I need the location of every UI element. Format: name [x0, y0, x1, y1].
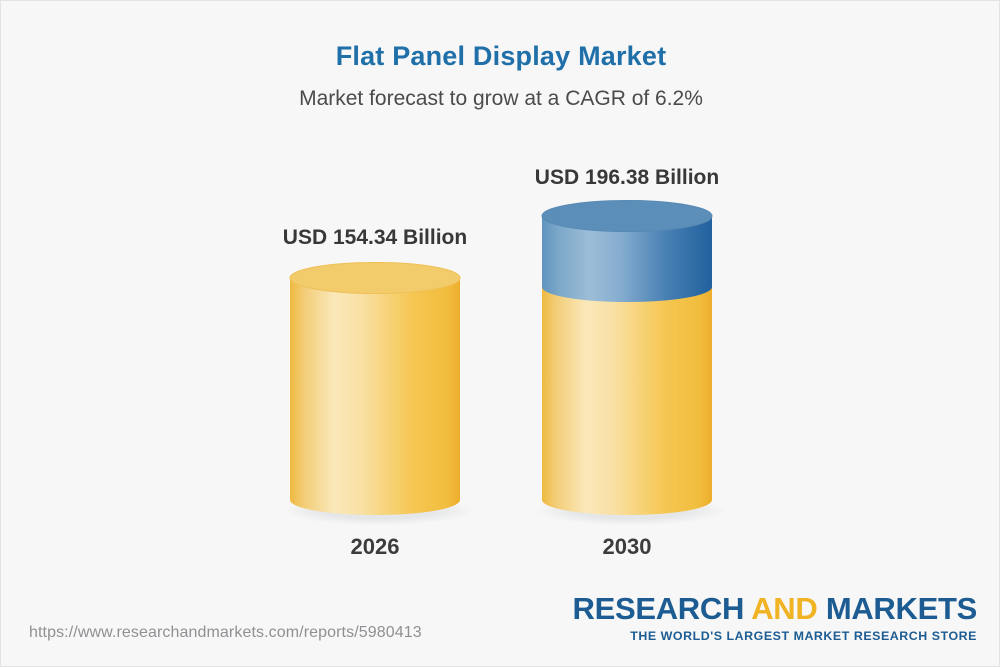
logo-word-and: AND: [744, 591, 826, 626]
value-label-2030: USD 196.38 Billion: [467, 166, 787, 190]
chart-canvas: Flat Panel Display Market Market forecas…: [0, 0, 1000, 667]
category-label-2030: 2030: [467, 534, 787, 560]
source-url[interactable]: https://www.researchandmarkets.com/repor…: [29, 624, 422, 642]
logo-word-research: RESEARCH: [572, 591, 744, 626]
logo-tagline: THE WORLD'S LARGEST MARKET RESEARCH STOR…: [572, 630, 977, 642]
bar-body-amber-2030: [542, 287, 712, 515]
logo-wordmark: RESEARCH AND MARKETS: [572, 593, 977, 624]
bar-body-2026: [290, 278, 460, 515]
logo-word-markets: MARKETS: [826, 591, 977, 626]
value-label-2026: USD 154.34 Billion: [215, 226, 535, 250]
bar-cylinder-2030[interactable]: [542, 201, 712, 516]
brand-logo[interactable]: RESEARCH AND MARKETS THE WORLD'S LARGEST…: [572, 593, 977, 642]
bar-cylinder-2026[interactable]: [290, 263, 460, 516]
chart-plot-area: [1, 1, 1000, 667]
